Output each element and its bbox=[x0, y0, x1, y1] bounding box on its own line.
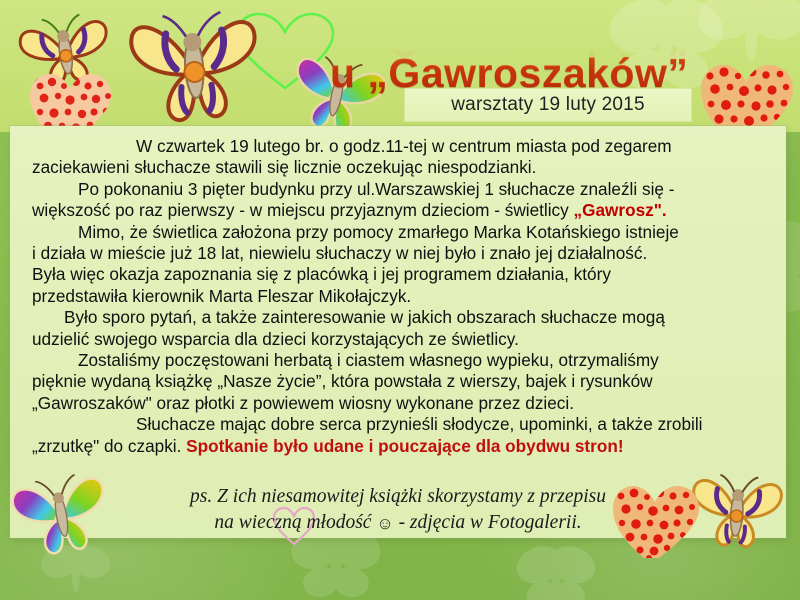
paragraph-3-line-3: Była więc okazja zapoznania się z placów… bbox=[32, 264, 768, 285]
paragraph-2-line-2: większość po raz pierwszy - w miejscu pr… bbox=[32, 200, 768, 221]
watermark-butterfly-icon bbox=[470, 540, 640, 600]
postscript-block: ps. Z ich niesamowitej książki skorzysta… bbox=[10, 484, 786, 536]
postscript-line-2-post: - zdjęcia w Fotogalerii. bbox=[394, 512, 582, 533]
paragraph-3-line-4: przedstawiła kierownik Marta Fleszar Mik… bbox=[32, 286, 768, 307]
paragraph-5-line-1: Zostaliśmy poczęstowani herbatą i ciaste… bbox=[32, 350, 768, 371]
paragraph-1-line-1: W czwartek 19 lutego br. o godz.11-tej w… bbox=[32, 136, 768, 157]
green-heart-outline-icon bbox=[233, 12, 337, 92]
paragraph-3-line-1: Mimo, że świetlica założona przy pomocy … bbox=[32, 222, 768, 243]
header-banner: u „Gawroszaków” u „Gawroszaków” warsztat… bbox=[0, 0, 800, 132]
butterfly-icon bbox=[14, 8, 115, 90]
subtitle-text: warsztaty 19 luty 2015 bbox=[451, 94, 644, 116]
postscript-line-1: ps. Z ich niesamowitej książki skorzysta… bbox=[10, 484, 786, 510]
postscript-line-2-pre: na wieczną młodość bbox=[214, 512, 376, 533]
paragraph-6-text: „zrzutkę" do czapki. bbox=[32, 436, 186, 456]
paragraph-6-line-2: „zrzutkę" do czapki. Spotkanie było udan… bbox=[32, 436, 768, 457]
paragraph-2-line-1: Po pokonaniu 3 pięter budynku przy ul.Wa… bbox=[32, 179, 768, 200]
article-panel: W czwartek 19 lutego br. o godz.11-tej w… bbox=[10, 126, 786, 538]
poster-canvas: u „Gawroszaków” u „Gawroszaków” warsztat… bbox=[0, 0, 800, 600]
paragraph-1-line-2: zaciekawieni słuchacze stawili się liczn… bbox=[32, 157, 768, 178]
paragraph-4-line-2: udzielić swojego wsparcia dla dzieci kor… bbox=[32, 329, 768, 350]
paragraph-5-line-2: pięknie wydaną książkę „Nasze życie”, kt… bbox=[32, 371, 768, 392]
paragraph-3-line-2: i działa w mieście już 18 lat, niewielu … bbox=[32, 243, 768, 264]
article-text: W czwartek 19 lutego br. o godz.11-tej w… bbox=[32, 136, 768, 457]
paragraph-4-line-1: Było sporo pytań, a także zainteresowani… bbox=[32, 307, 768, 328]
highlight-gawrosz: „Gawrosz". bbox=[574, 200, 667, 220]
subtitle-box: warsztaty 19 luty 2015 bbox=[404, 88, 692, 122]
highlight-closing-statement: Spotkanie było udane i pouczające dla ob… bbox=[186, 436, 623, 456]
postscript-line-2: na wieczną młodość ☺ - zdjęcia w Fotogal… bbox=[10, 510, 786, 536]
paragraph-2-text: większość po raz pierwszy - w miejscu pr… bbox=[32, 200, 574, 220]
paragraph-6-line-1: Słuchacze mając dobre serca przynieśli s… bbox=[32, 414, 768, 435]
paragraph-5-line-3: „Gawroszaków" oraz płotki z powiewem wio… bbox=[32, 393, 768, 414]
heart-cluster-icon bbox=[30, 68, 122, 132]
smiley-icon: ☺ bbox=[376, 514, 393, 533]
watermark-butterfly-icon bbox=[0, 540, 150, 600]
